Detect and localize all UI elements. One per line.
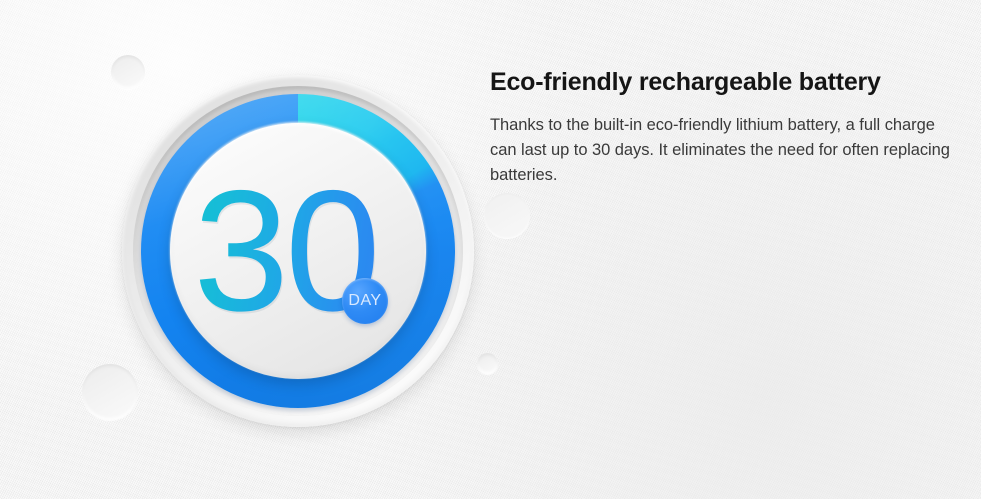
feature-copy: Eco-friendly rechargeable battery Thanks… — [490, 68, 960, 188]
gauge-readout: 30 30 DAY — [170, 123, 426, 379]
promo-panel: 30 30 DAY Eco-friendly rechargeable batt… — [0, 0, 981, 499]
bubble-right-small — [477, 353, 498, 374]
gauge-value: 30 — [170, 165, 426, 337]
feature-heading: Eco-friendly rechargeable battery — [490, 68, 960, 97]
day-badge-label: DAY — [348, 293, 381, 309]
battery-life-gauge: 30 30 DAY — [122, 75, 474, 427]
day-badge: DAY — [342, 278, 388, 324]
bubble-right-large — [484, 193, 530, 239]
feature-body: Thanks to the built-in eco-friendly lith… — [490, 113, 960, 188]
